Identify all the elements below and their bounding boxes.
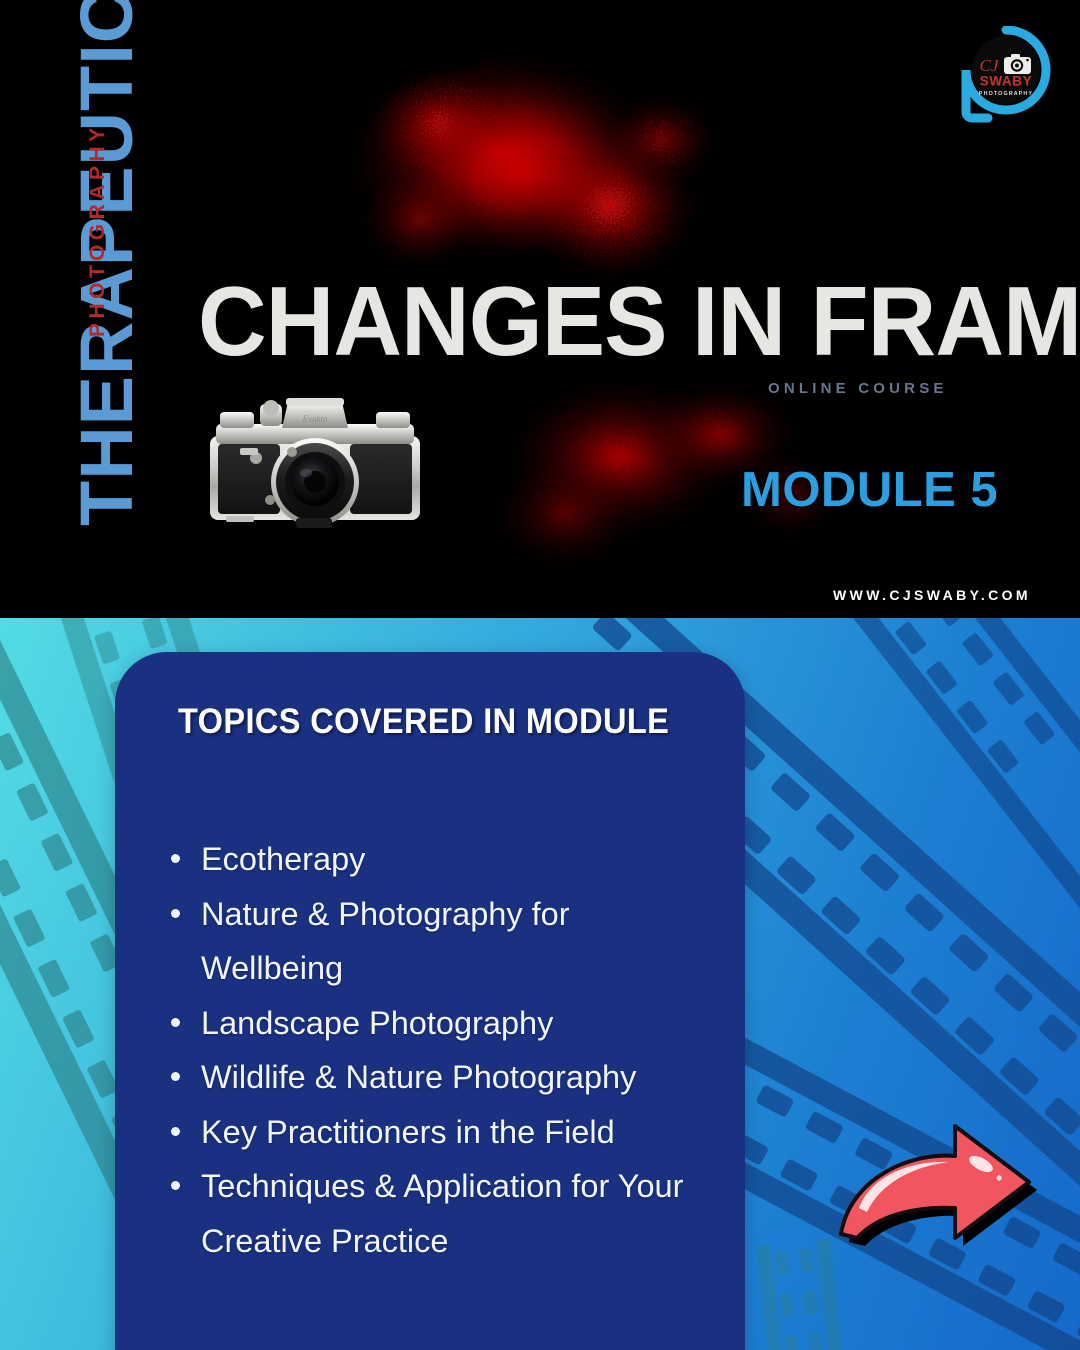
website-url: WWW.CJSWABY.COM	[833, 587, 1031, 603]
topics-list: Ecotherapy Nature & Photography for Well…	[155, 832, 715, 1268]
bullet-icon	[171, 1127, 180, 1136]
list-item-label: Ecotherapy	[201, 832, 715, 887]
list-item: Wildlife & Nature Photography	[155, 1050, 715, 1105]
list-item-label: Techniques & Application for Your Creati…	[201, 1159, 715, 1268]
svg-text:CJ: CJ	[980, 56, 1000, 75]
list-item-label: Key Practitioners in the Field	[201, 1105, 715, 1160]
page-subtitle: ONLINE COURSE	[768, 380, 948, 397]
topics-card: TOPICS COVERED IN MODULE Ecotherapy Natu…	[115, 652, 745, 1350]
bullet-icon	[171, 909, 180, 918]
list-item: Landscape Photography	[155, 996, 715, 1051]
list-item-label: Wildlife & Nature Photography	[201, 1050, 715, 1105]
bullet-icon	[171, 1018, 180, 1027]
bullet-icon	[171, 1181, 180, 1190]
hero-section: THERAPEUTIC PHOTOGRAPHY	[0, 0, 1080, 618]
right-curved-arrow-icon	[823, 1116, 1058, 1246]
swaby-photography-logo: CJ SWABY PHOTOGRAPHY	[958, 26, 1054, 130]
list-item: Nature & Photography for Wellbeing	[155, 887, 715, 996]
bullet-icon	[171, 1072, 180, 1081]
svg-text:PHOTOGRAPHY: PHOTOGRAPHY	[979, 91, 1033, 97]
list-item-label: Landscape Photography	[201, 996, 715, 1051]
topics-card-content: TOPICS COVERED IN MODULE Ecotherapy Natu…	[115, 652, 745, 1319]
bullet-icon	[171, 854, 180, 863]
list-item: Techniques & Application for Your Creati…	[155, 1159, 715, 1268]
list-item: Ecotherapy	[155, 832, 715, 887]
vintage-slr-camera-image: Exakta	[196, 388, 434, 543]
svg-text:Exakta: Exakta	[302, 414, 328, 424]
list-item: Key Practitioners in the Field	[155, 1105, 715, 1160]
topics-section: TOPICS COVERED IN MODULE Ecotherapy Natu…	[0, 618, 1080, 1350]
topics-heading: TOPICS COVERED IN MODULE	[178, 702, 669, 742]
vertical-title-block: THERAPEUTIC PHOTOGRAPHY	[0, 0, 170, 618]
list-item-label: Nature & Photography for Wellbeing	[201, 887, 715, 996]
poster-canvas: THERAPEUTIC PHOTOGRAPHY	[0, 0, 1080, 1350]
svg-text:SWABY: SWABY	[980, 74, 1033, 89]
module-label: MODULE 5	[741, 462, 998, 518]
vertical-subtitle: PHOTOGRAPHY	[83, 97, 113, 337]
page-title: CHANGES IN FRAME	[198, 272, 906, 370]
